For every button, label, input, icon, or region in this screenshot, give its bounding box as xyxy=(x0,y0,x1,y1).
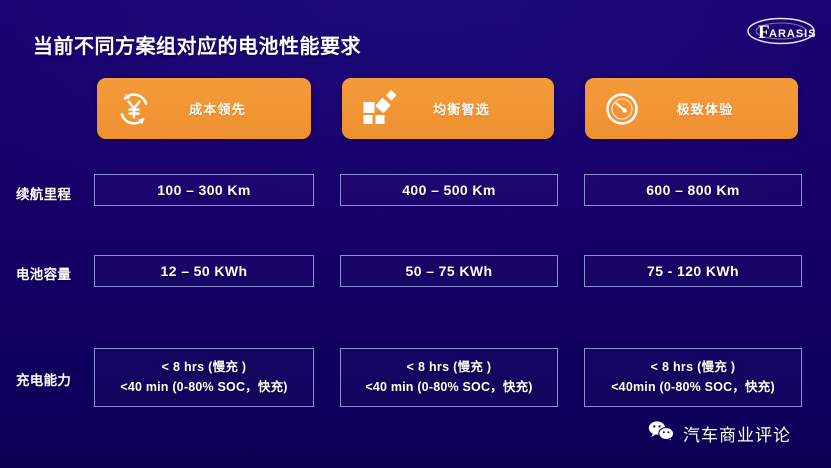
cell-value: 600 – 800 Km xyxy=(646,182,740,198)
column-label: 均衡智选 xyxy=(399,99,554,118)
four-squares-icon xyxy=(359,89,399,129)
logo-lead-letter: F xyxy=(758,22,770,43)
cell-battery-capacity-cost-leading: 12 – 50 KWh xyxy=(94,255,314,287)
cell-value-line2: <40 min (0-80% SOC，快充) xyxy=(365,381,532,394)
cell-value-line1: < 8 hrs (慢充 ) xyxy=(162,361,247,374)
cell-value-line2: <40 min (0-80% SOC，快充) xyxy=(120,381,287,394)
cell-value-line1: < 8 hrs (慢充 ) xyxy=(651,361,736,374)
watermark: 汽车商业评论 xyxy=(648,420,791,446)
page-title: 当前不同方案组对应的电池性能要求 xyxy=(33,30,361,59)
cell-charging-capability-balanced-smart: < 8 hrs (慢充 ) <40 min (0-80% SOC，快充) xyxy=(340,348,558,407)
column-card-ultimate-experience[interactable]: 极致体验 xyxy=(585,78,798,139)
cell-value: 75 - 120 KWh xyxy=(647,263,739,279)
cell-driving-range-ultimate-experience: 600 – 800 Km xyxy=(584,174,802,206)
row-label-driving-range: 续航里程 xyxy=(16,183,88,203)
cell-value-line1: < 8 hrs (慢充 ) xyxy=(407,361,492,374)
row-label-battery-capacity: 电池容量 xyxy=(16,263,88,283)
cell-charging-capability-cost-leading: < 8 hrs (慢充 ) <40 min (0-80% SOC，快充) xyxy=(94,348,314,407)
cell-value-line2: <40min (0-80% SOC，快充) xyxy=(611,381,775,394)
column-label: 极致体验 xyxy=(642,99,798,118)
slide-canvas: 当前不同方案组对应的电池性能要求 F ARASIS xyxy=(0,0,831,468)
logo-wordmark: ARASIS xyxy=(769,28,817,40)
cell-value: 50 – 75 KWh xyxy=(406,263,493,279)
row-label-charging-capability: 充电能力 xyxy=(16,369,88,389)
cell-battery-capacity-ultimate-experience: 75 - 120 KWh xyxy=(584,255,802,287)
watermark-text: 汽车商业评论 xyxy=(683,421,791,446)
cell-charging-capability-ultimate-experience: < 8 hrs (慢充 ) <40min (0-80% SOC，快充) xyxy=(584,348,802,407)
speedometer-icon xyxy=(602,89,642,129)
column-card-cost-leading[interactable]: 成本领先 xyxy=(97,78,311,139)
cell-battery-capacity-balanced-smart: 50 – 75 KWh xyxy=(340,255,558,287)
yuan-refresh-icon xyxy=(114,89,154,129)
wechat-icon xyxy=(648,420,675,447)
column-label: 成本领先 xyxy=(154,99,311,118)
cell-value: 400 – 500 Km xyxy=(402,182,496,198)
cell-value: 100 – 300 Km xyxy=(157,182,251,198)
cell-driving-range-cost-leading: 100 – 300 Km xyxy=(94,174,314,206)
cell-driving-range-balanced-smart: 400 – 500 Km xyxy=(340,174,558,206)
cell-value: 12 – 50 KWh xyxy=(161,263,248,279)
column-card-balanced-smart[interactable]: 均衡智选 xyxy=(342,78,554,139)
farasis-logo: F ARASIS xyxy=(745,14,817,48)
